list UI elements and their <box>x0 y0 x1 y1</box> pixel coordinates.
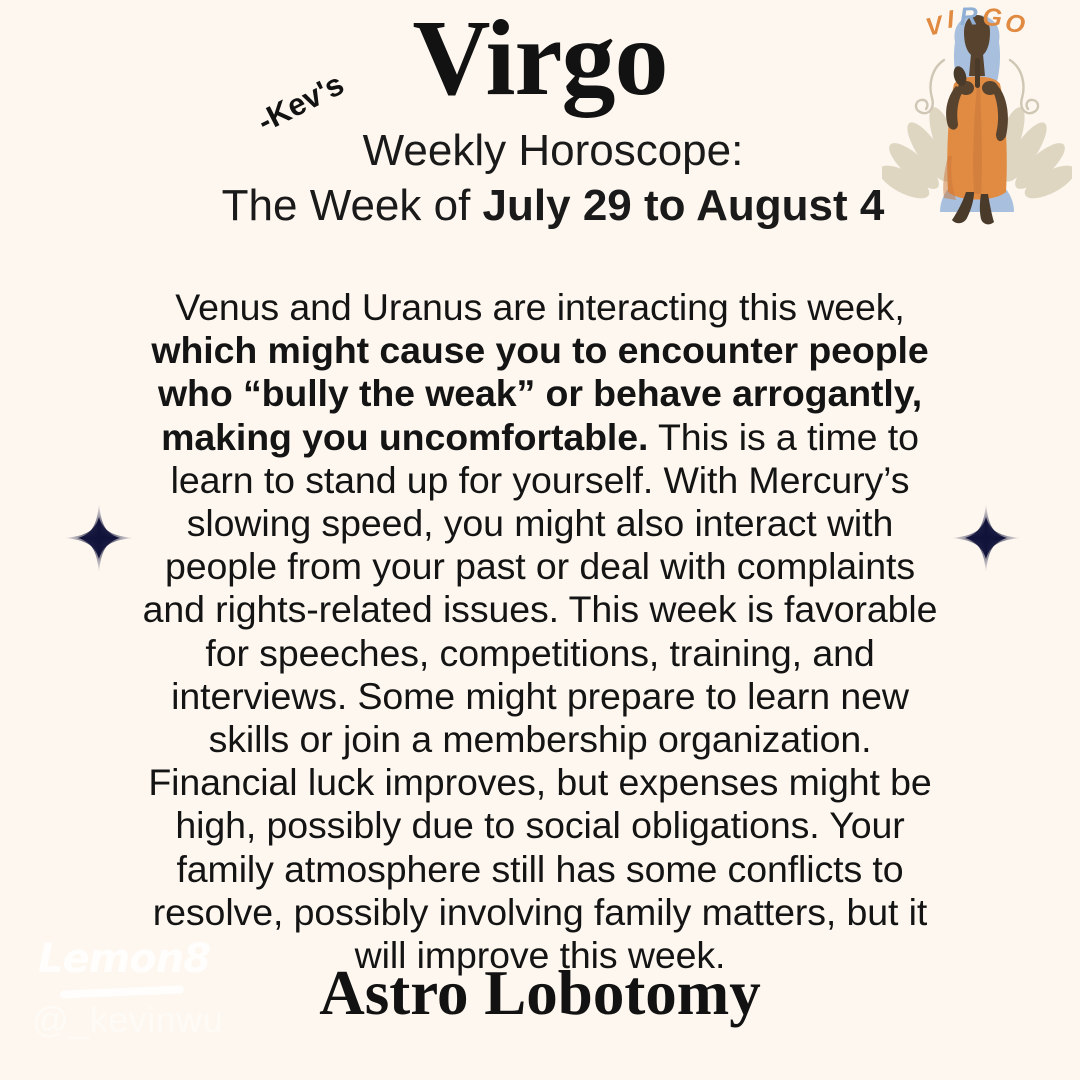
header: Virgo -Kev's Weekly Horoscope: The Week … <box>0 0 1080 250</box>
hand-right <box>982 81 998 95</box>
body-segment-0: Venus and Uranus are interacting this we… <box>175 286 904 328</box>
date-range-value: July 29 to August 4 <box>483 181 885 230</box>
svg-text:G: G <box>982 6 1003 32</box>
horoscope-card: Virgo -Kev's Weekly Horoscope: The Week … <box>0 0 1080 1080</box>
svg-text:O: O <box>1003 8 1028 39</box>
body-segment-2: This is a time to learn to stand up for … <box>143 416 938 976</box>
svg-text:I: I <box>945 6 956 34</box>
sparkle-star-left-icon <box>62 501 136 575</box>
virgo-illustration-icon: V I R G O <box>882 6 1072 232</box>
svg-text:R: R <box>959 6 978 31</box>
horoscope-body: Venus and Uranus are interacting this we… <box>130 286 950 977</box>
brand-title: Astro Lobotomy <box>0 959 1080 1028</box>
sparkle-star-right-icon <box>949 501 1023 575</box>
svg-text:V: V <box>923 10 948 42</box>
date-range-prefix: The Week of <box>222 181 483 230</box>
